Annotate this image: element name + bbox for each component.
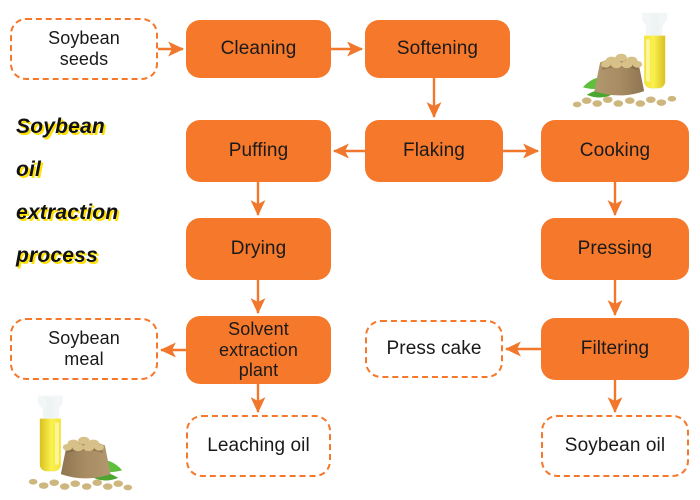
soybean-oil-photo-top-right: [558, 4, 692, 116]
soybean-oil-photo-bottom-left: [6, 388, 154, 498]
node-label: Leaching oil: [207, 435, 310, 456]
node-label: Solventextractionplant: [219, 319, 298, 382]
title-line-4: process: [16, 234, 176, 277]
node-cleaning[interactable]: Cleaning: [186, 20, 331, 78]
node-label: Cooking: [580, 140, 650, 161]
node-label: Soybean oil: [565, 435, 665, 456]
title-line-2: oil: [16, 148, 176, 191]
flowchart-canvas: Soybean oil extraction process Soybeanse…: [0, 0, 700, 500]
node-press-cake[interactable]: Press cake: [365, 320, 503, 378]
node-label: Puffing: [229, 140, 289, 161]
node-label: Drying: [231, 238, 287, 259]
node-label: Soybeanmeal: [48, 328, 120, 370]
node-leaching-oil[interactable]: Leaching oil: [186, 415, 331, 477]
node-label: Soybeanseeds: [48, 28, 120, 70]
node-pressing[interactable]: Pressing: [541, 218, 689, 280]
title-line-1: Soybean: [16, 105, 176, 148]
node-flaking[interactable]: Flaking: [365, 120, 503, 182]
node-softening[interactable]: Softening: [365, 20, 510, 78]
node-soybean-meal[interactable]: Soybeanmeal: [10, 318, 158, 380]
node-solvent-plant[interactable]: Solventextractionplant: [186, 316, 331, 384]
node-label: Flaking: [403, 140, 465, 161]
node-label: Filtering: [581, 338, 649, 359]
node-puffing[interactable]: Puffing: [186, 120, 331, 182]
node-soybean-oil-out[interactable]: Soybean oil: [541, 415, 689, 477]
node-label: Pressing: [578, 238, 653, 259]
title-line-3: extraction: [16, 191, 176, 234]
node-drying[interactable]: Drying: [186, 218, 331, 280]
node-label: Press cake: [387, 338, 482, 359]
node-soybean-seeds[interactable]: Soybeanseeds: [10, 18, 158, 80]
page-title: Soybean oil extraction process: [16, 105, 176, 277]
node-filtering[interactable]: Filtering: [541, 318, 689, 380]
node-label: Cleaning: [221, 38, 297, 59]
node-label: Softening: [397, 38, 478, 59]
node-cooking[interactable]: Cooking: [541, 120, 689, 182]
